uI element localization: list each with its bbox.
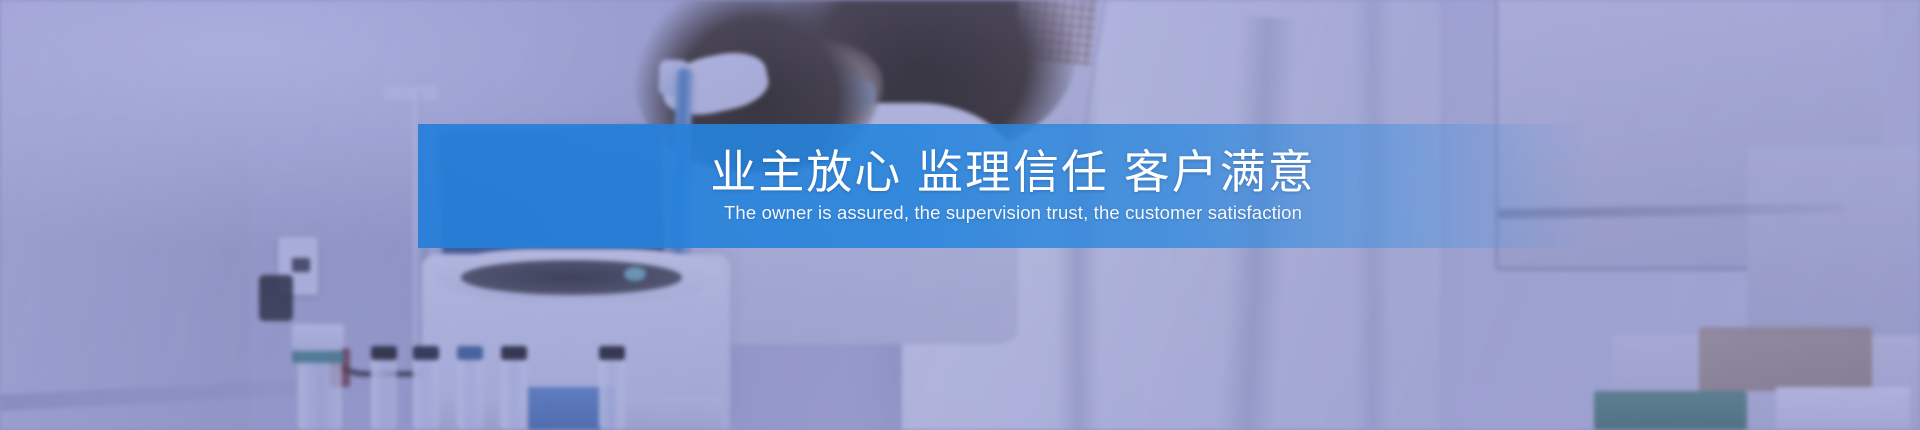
banner-subheadline: The owner is assured, the supervision tr…: [724, 201, 1302, 225]
hero-banner: 业主放心 监理信任 客户满意 The owner is assured, the…: [0, 0, 1920, 430]
banner-headline: 业主放心 监理信任 客户满意: [710, 147, 1316, 199]
message-band-content: 业主放心 监理信任 客户满意 The owner is assured, the…: [418, 124, 1590, 248]
